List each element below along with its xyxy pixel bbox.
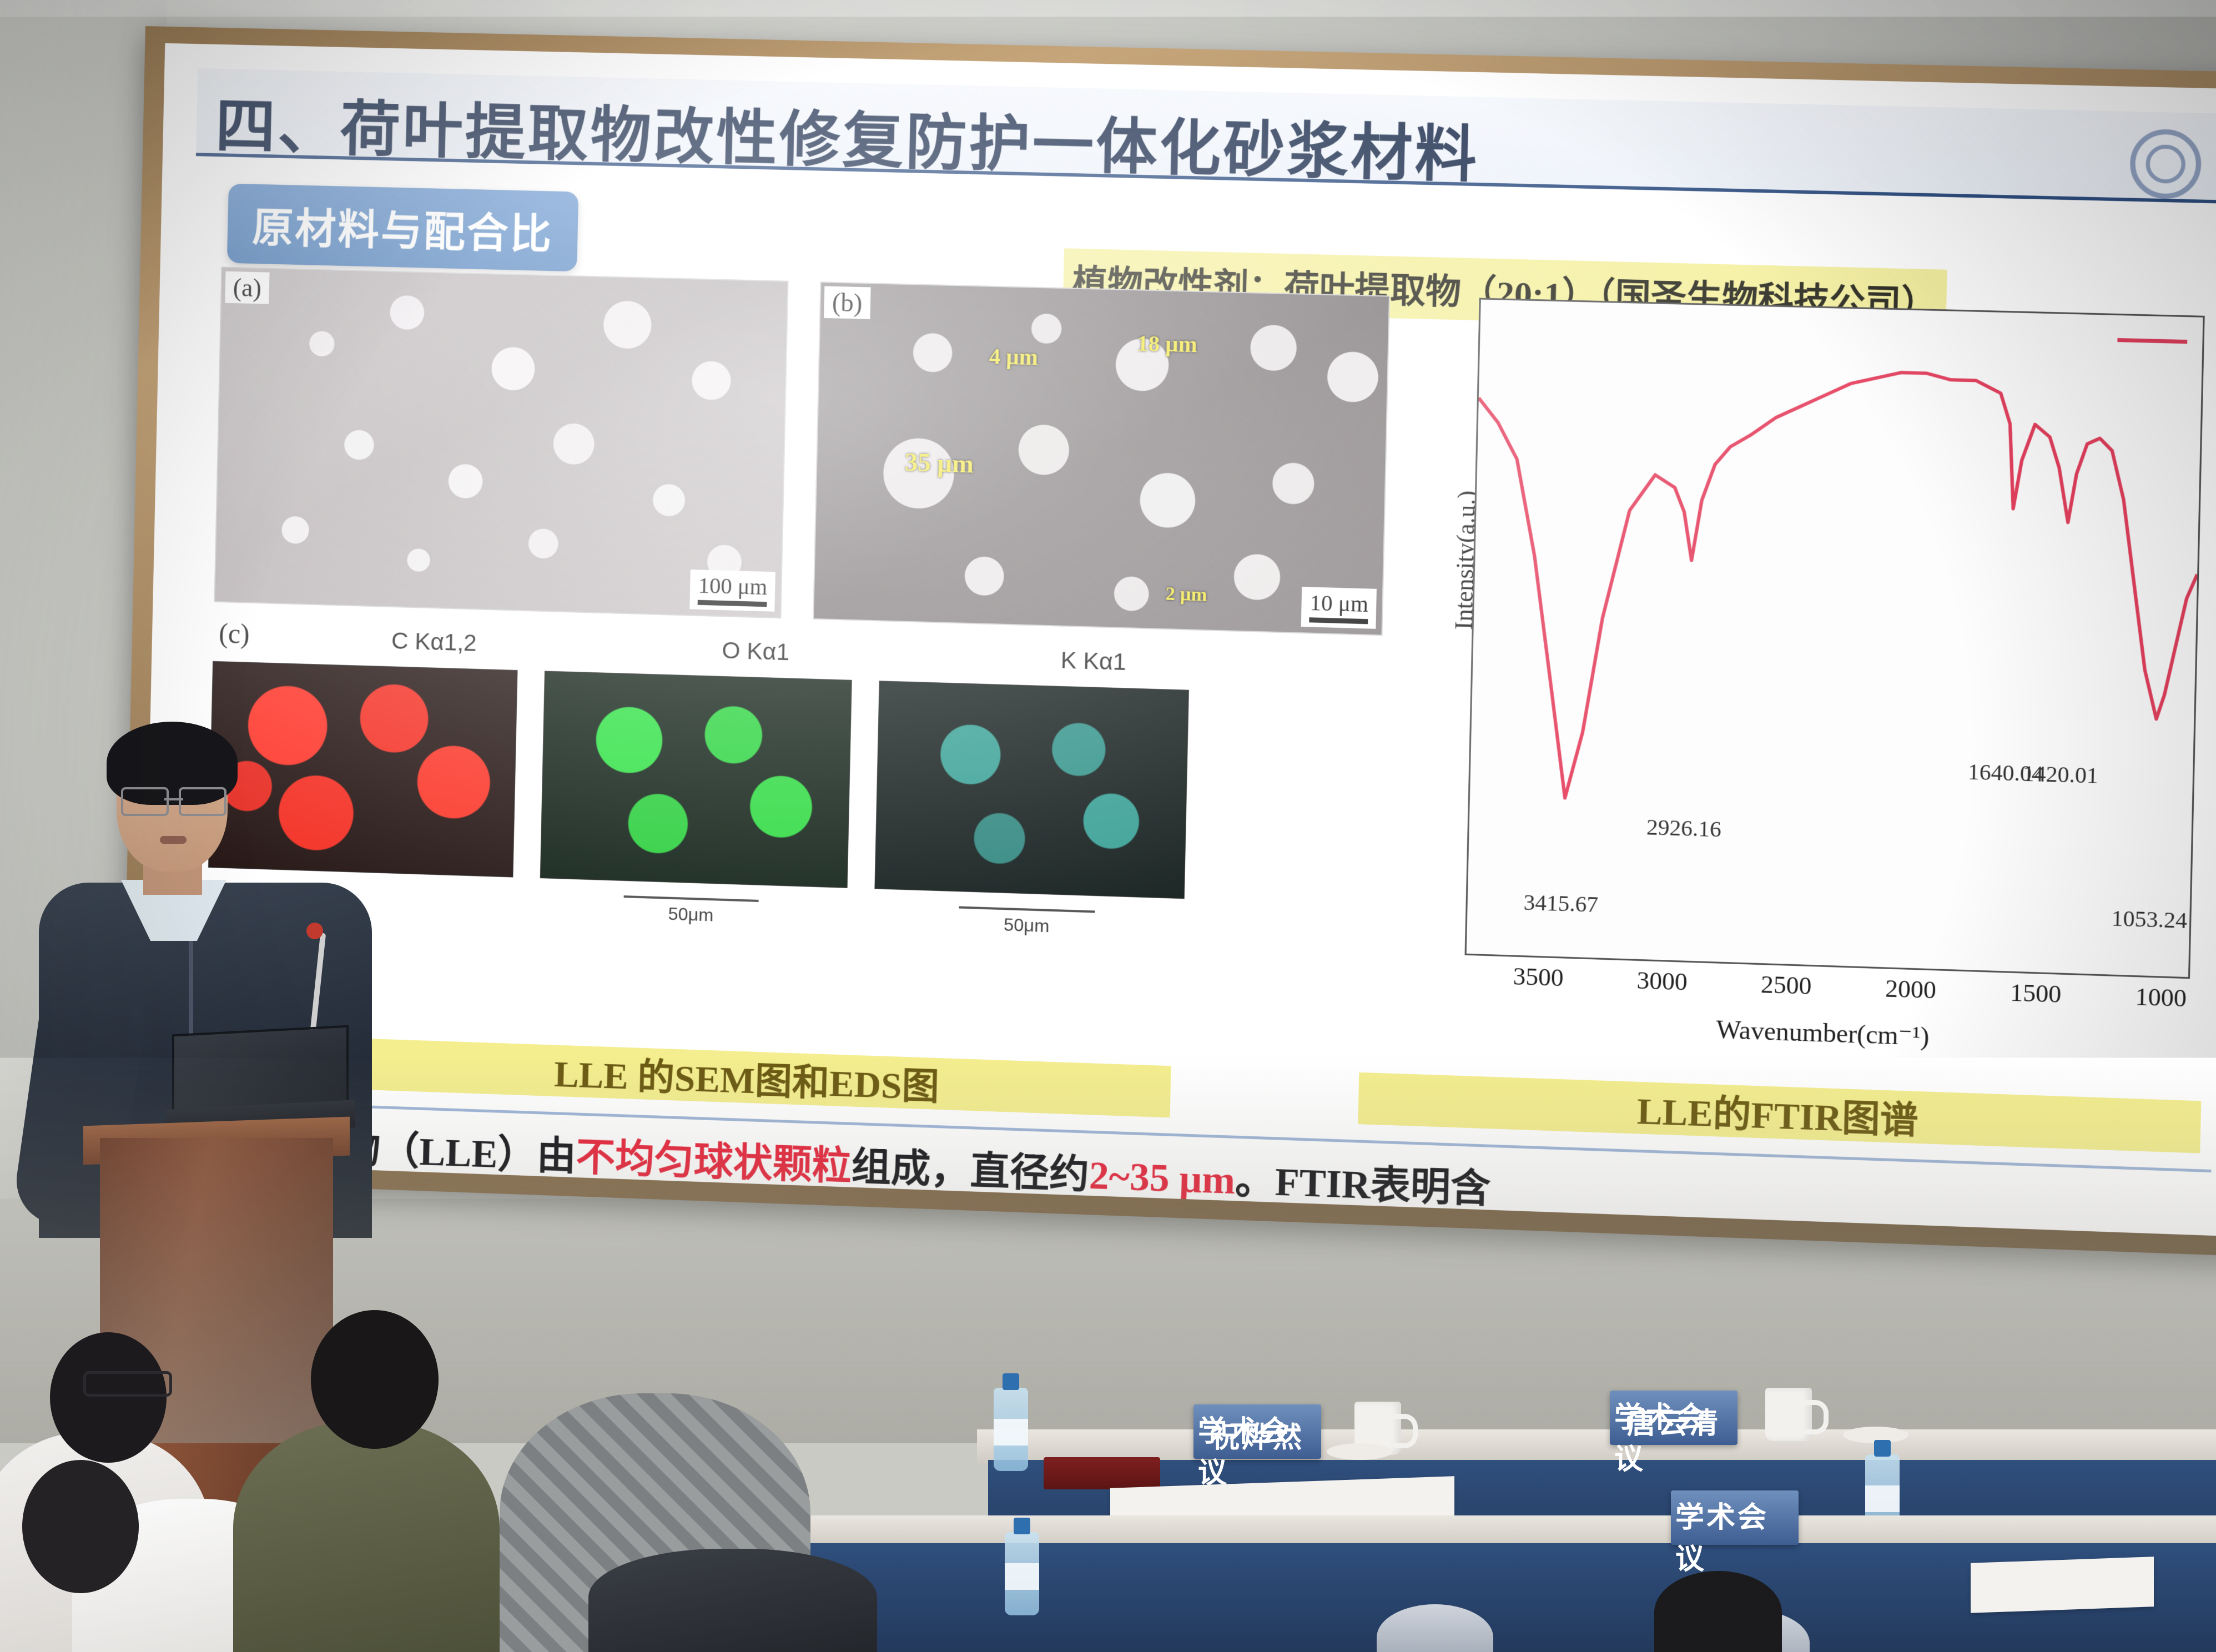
ftir-peak-3415.67: 3415.67 xyxy=(1523,889,1598,918)
panel-a-tag: (a) xyxy=(225,271,269,304)
nameplate-1: 学术会议 祝烨然 xyxy=(1193,1404,1321,1459)
sem-image-b: (b) 4 μm 18 μm 35 μm 2 μm 10 μm xyxy=(813,281,1390,636)
bottle-label-1 xyxy=(994,1419,1028,1445)
microphone-icon xyxy=(306,923,323,939)
nameplate-3: 学术会议 xyxy=(1671,1490,1799,1545)
glasses-right-lens xyxy=(179,787,226,816)
university-logo-icon xyxy=(2129,129,2202,200)
audience-laptop-screen xyxy=(562,1327,737,1465)
paper-sheet-2 xyxy=(1971,1557,2154,1613)
ftir-xtick-3000: 3000 xyxy=(1636,966,1688,996)
ftir-x-axis-label: Wavenumber(cm⁻¹) xyxy=(1463,1005,2185,1060)
ftir-plot-area xyxy=(1465,298,2205,979)
ftir-curve xyxy=(1467,300,2203,977)
presenter-mouth xyxy=(160,836,187,844)
nameplate-3-header: 学术会议 xyxy=(1675,1494,1799,1577)
water-bottle-3 xyxy=(1005,1532,1039,1615)
audience-member-3-head xyxy=(311,1310,439,1449)
ftir-xtick-3500: 3500 xyxy=(1513,962,1564,993)
nameplate-1-header: 学术会议 xyxy=(1198,1408,1321,1491)
annotation-18um: 18 μm xyxy=(1137,330,1198,357)
slide-title: 四、荷叶提取物改性修复防护一体化砂浆材料 xyxy=(215,78,1480,194)
saucer-1 xyxy=(1327,1443,1392,1460)
glasses-icon xyxy=(121,787,226,812)
audience-member-4-glasses-icon xyxy=(666,1299,767,1328)
ftir-peak-1053.24: 1053.24 xyxy=(2111,905,2187,934)
folder-on-table xyxy=(1044,1457,1160,1489)
panel-a-scalebar: 100 μm xyxy=(690,570,775,612)
panel-b-tag: (b) xyxy=(824,286,870,319)
annotation-4um: 4 μm xyxy=(989,343,1038,371)
section-badge: 原材料与配合比 xyxy=(227,184,579,272)
water-bottle-1 xyxy=(994,1388,1028,1471)
eds-scalebar-potassium: 50μm xyxy=(958,913,1095,938)
conference-photo: 四、荷叶提取物改性修复防护一体化砂浆材料 原材料与配合比 植物改性剂：荷叶提取物… xyxy=(0,0,2216,1652)
ftir-xtick-1500: 1500 xyxy=(2010,978,2062,1009)
eds-label-potassium: K Kα1 xyxy=(1060,647,1126,676)
ftir-chart: Intensity(a.u.) 350030002500200015001000… xyxy=(1428,297,2213,1072)
eds-map-oxygen xyxy=(540,671,852,888)
annotation-2um: 2 μm xyxy=(1165,583,1207,606)
nameplate-2: 学术会议 唐云清 xyxy=(1610,1391,1737,1445)
ftir-peak-1420.01: 1420.01 xyxy=(2022,760,2098,789)
ftir-xtick-2000: 2000 xyxy=(1885,974,1937,1005)
bottle-label-3 xyxy=(1005,1563,1039,1590)
ceiling-edge xyxy=(0,0,2216,17)
eds-scalebar-oxygen: 50μm xyxy=(623,902,759,927)
annotation-35um: 35 μm xyxy=(904,447,974,479)
glasses-left-lens xyxy=(121,787,169,816)
nameplate-2-header: 学术会议 xyxy=(1614,1394,1737,1477)
ftir-xtick-1000: 1000 xyxy=(2135,982,2187,1013)
slide-title-bar: 四、荷叶提取物改性修复防护一体化砂浆材料 xyxy=(196,68,2216,203)
audience-member-6-head xyxy=(1654,1571,1782,1652)
table-surface-back xyxy=(977,1429,2216,1464)
audience-member-1-glasses-icon xyxy=(83,1371,172,1397)
audience-member-5-body xyxy=(588,1549,877,1652)
ftir-xtick-2500: 2500 xyxy=(1761,970,1812,1000)
cup-2 xyxy=(1765,1388,1812,1441)
eds-map-potassium xyxy=(874,681,1189,899)
audience-member-2-head xyxy=(22,1460,139,1593)
eds-label-oxygen: O Kα1 xyxy=(722,637,790,666)
panel-c-tag: (c) xyxy=(219,617,250,650)
eds-label-carbon: C Kα1,2 xyxy=(391,627,477,657)
audience-member-3-body xyxy=(233,1421,500,1652)
bottle-label-2 xyxy=(1865,1485,1900,1512)
ftir-peak-2926.16: 2926.16 xyxy=(1646,814,1721,843)
panel-b-scalebar: 10 μm xyxy=(1301,587,1377,629)
audience-member-1-head xyxy=(50,1332,167,1463)
sem-image-a: (a) 100 μm xyxy=(214,266,788,618)
